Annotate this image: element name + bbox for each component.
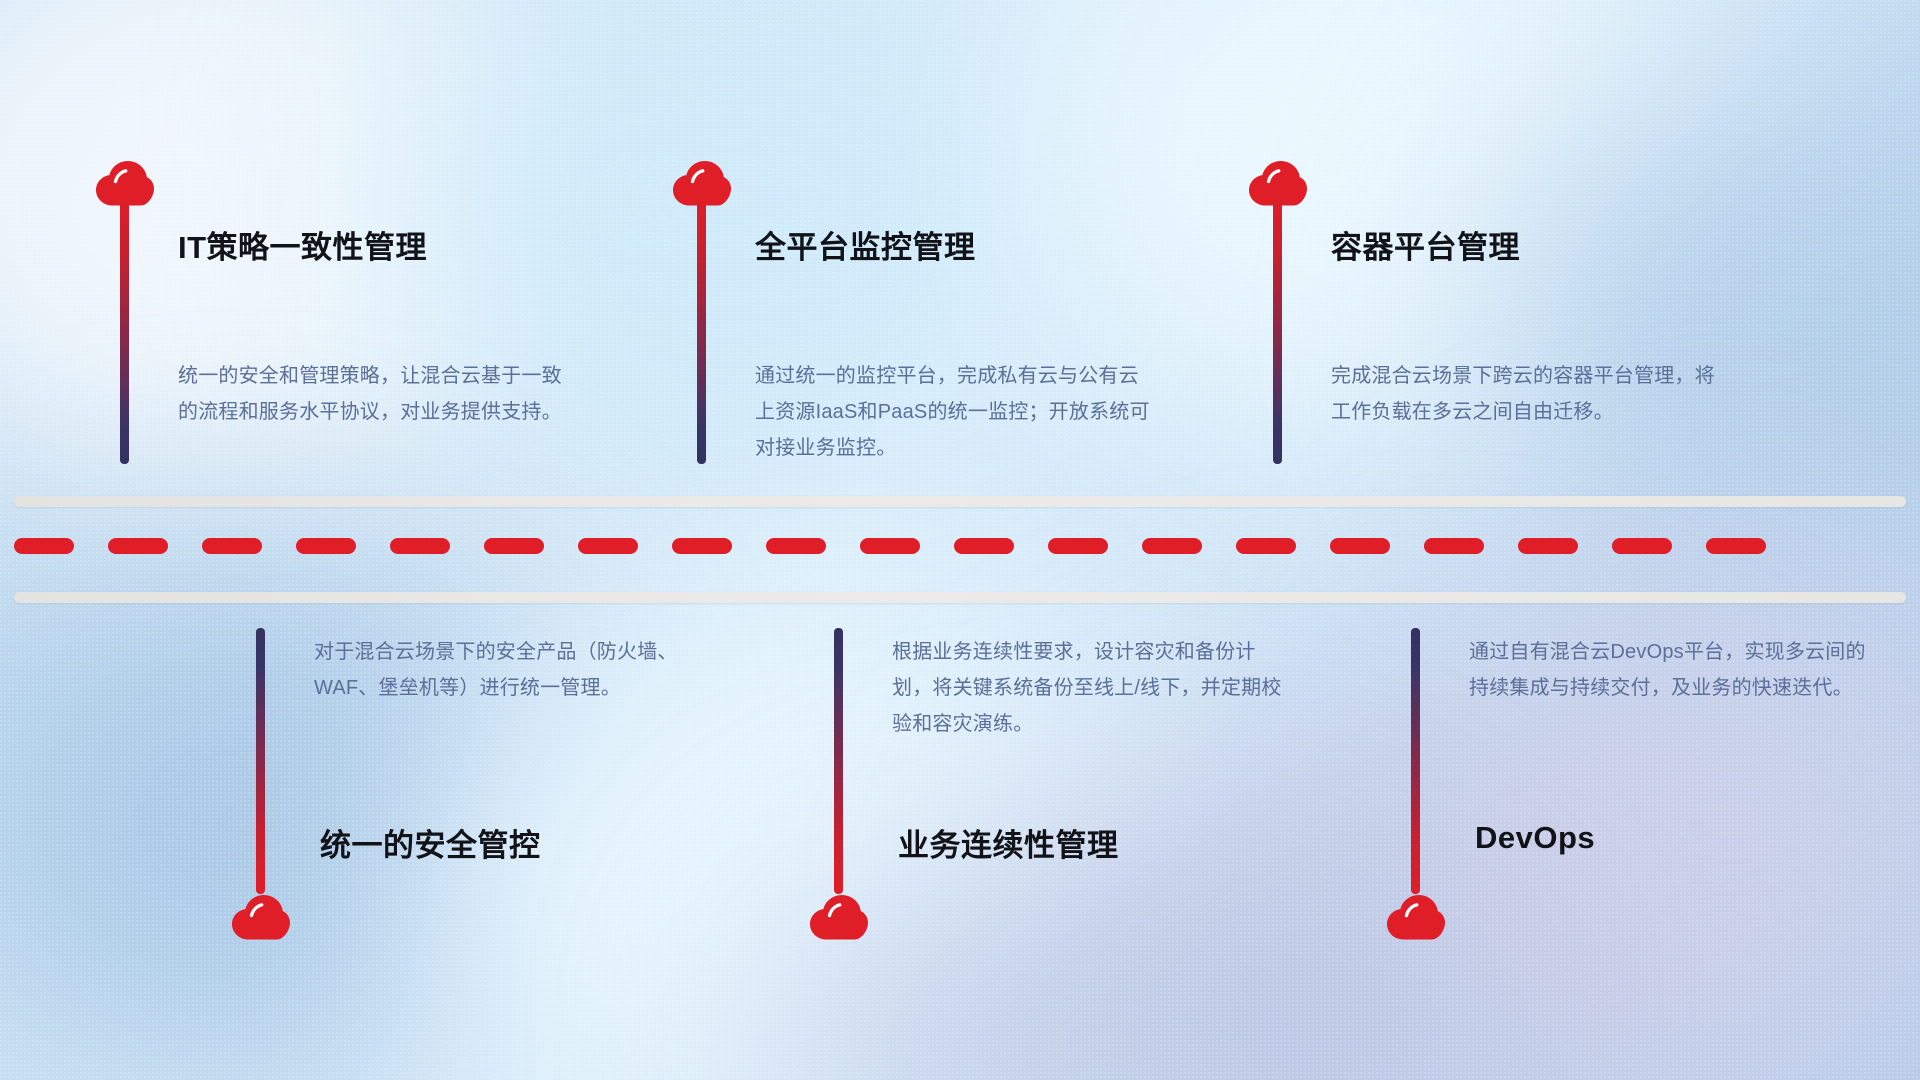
divider-dash: [860, 538, 920, 554]
card-title: 全平台监控管理: [755, 222, 976, 267]
card-description: 通过自有混合云DevOps平台，实现多云间的持续集成与持续交付，及业务的快速迭代…: [1469, 634, 1869, 706]
divider-dash: [1048, 538, 1108, 554]
cloud-icon: [809, 894, 869, 940]
divider-dash: [1236, 538, 1296, 554]
divider-dash: [1706, 538, 1766, 554]
divider-dash: [296, 538, 356, 554]
stem-bar: [256, 628, 265, 894]
stem-bar: [834, 628, 843, 894]
divider-dashed-line: [0, 537, 1920, 555]
cloud-icon: [231, 894, 291, 940]
divider-rule-top: [14, 496, 1906, 507]
cloud-icon: [1386, 894, 1446, 940]
divider-dash: [954, 538, 1014, 554]
divider-dash: [390, 538, 450, 554]
card-description: 通过统一的监控平台，完成私有云与公有云上资源IaaS和PaaS的统一监控；开放系…: [755, 358, 1155, 466]
stem-bar: [1273, 196, 1282, 464]
card-description: 统一的安全和管理策略，让混合云基于一致的流程和服务水平协议，对业务提供支持。: [178, 358, 578, 430]
infographic-canvas: IT策略一致性管理 统一的安全和管理策略，让混合云基于一致的流程和服务水平协议，…: [0, 0, 1920, 1080]
stem-bar: [1411, 628, 1420, 894]
divider-dash: [1424, 538, 1484, 554]
divider-dash: [1142, 538, 1202, 554]
card-title: DevOps: [1475, 820, 1595, 856]
divider-dash: [14, 538, 74, 554]
card-title: 容器平台管理: [1331, 222, 1520, 267]
card-title: 业务连续性管理: [898, 820, 1119, 865]
card-description: 完成混合云场景下跨云的容器平台管理，将工作负载在多云之间自由迁移。: [1331, 358, 1731, 430]
divider-dash: [578, 538, 638, 554]
divider-dash: [672, 538, 732, 554]
divider-dash: [1330, 538, 1390, 554]
divider-dash: [108, 538, 168, 554]
card-description: 对于混合云场景下的安全产品（防火墙、WAF、堡垒机等）进行统一管理。: [314, 634, 714, 706]
card-description: 根据业务连续性要求，设计容灾和备份计划，将关键系统备份至线上/线下，并定期校验和…: [892, 634, 1292, 742]
divider-dash: [1518, 538, 1578, 554]
card-title: IT策略一致性管理: [178, 222, 427, 267]
divider-dash: [766, 538, 826, 554]
divider-dash: [484, 538, 544, 554]
stem-bar: [697, 196, 706, 464]
divider-dash: [202, 538, 262, 554]
stem-bar: [120, 196, 129, 464]
divider-dash: [1612, 538, 1672, 554]
divider-rule-bottom: [14, 592, 1906, 603]
card-title: 统一的安全管控: [320, 820, 541, 865]
divider-band: [0, 480, 1920, 610]
